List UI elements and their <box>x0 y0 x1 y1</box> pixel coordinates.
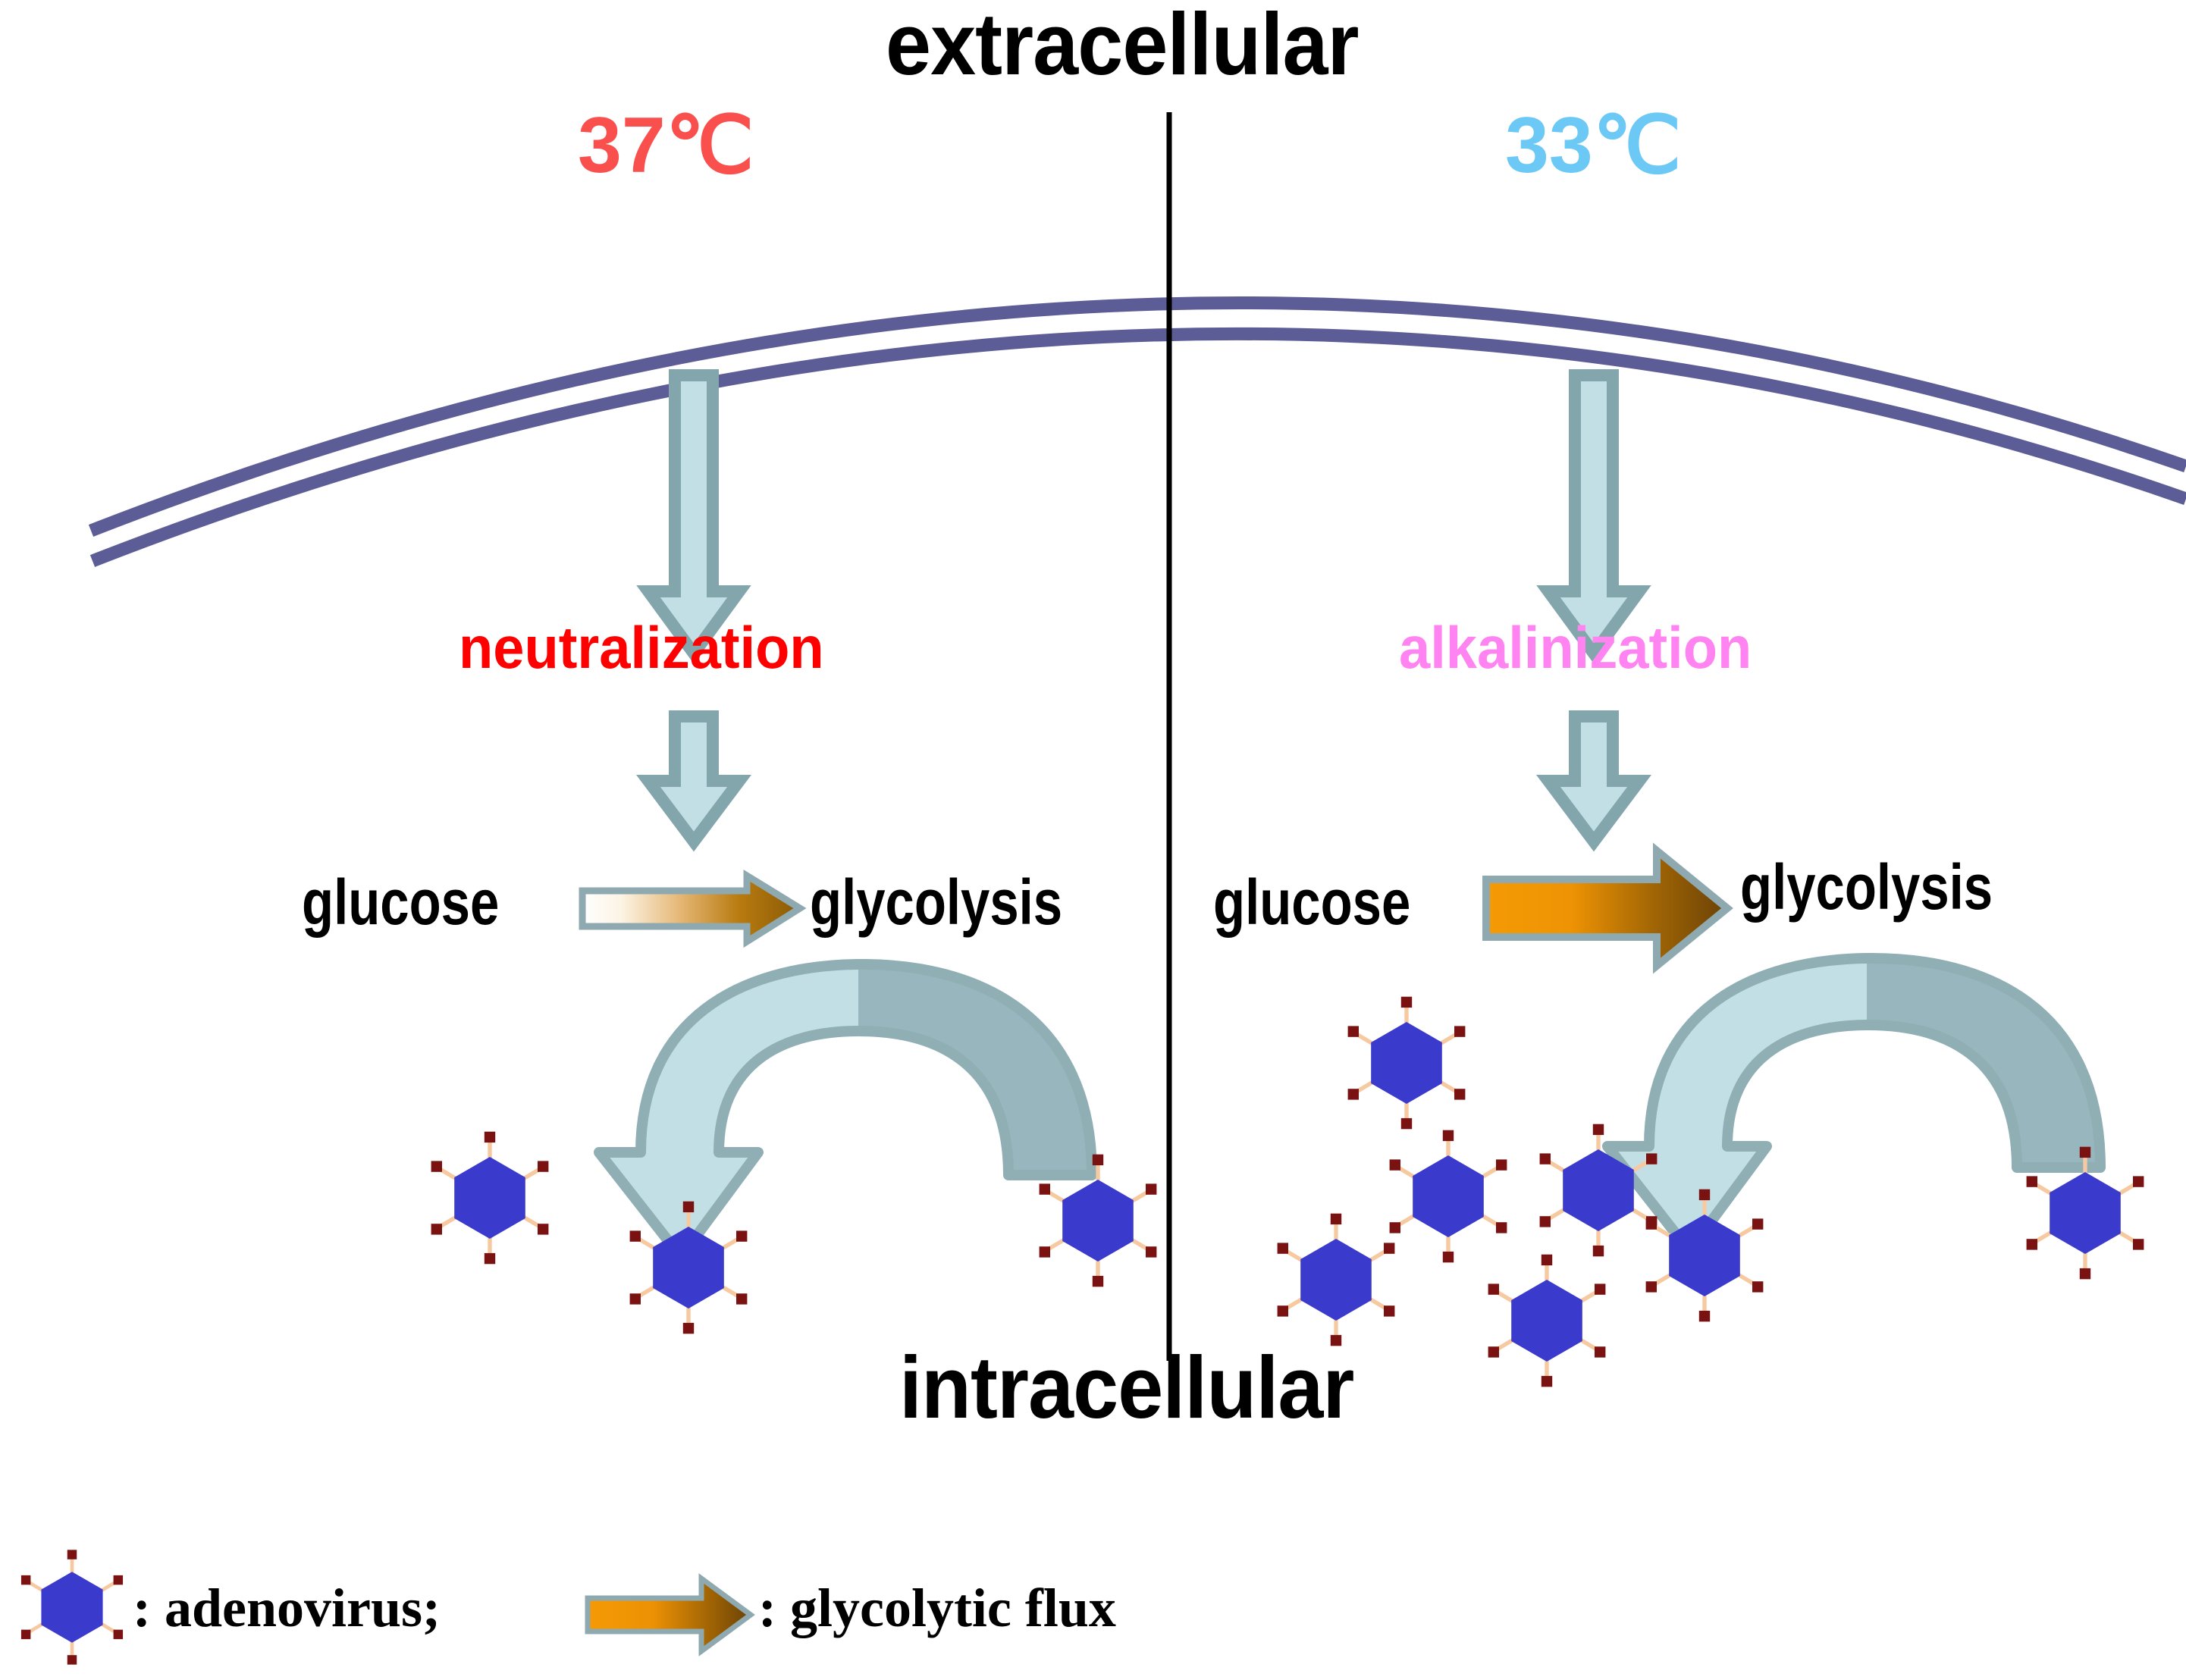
virus-particle <box>1488 1255 1606 1387</box>
curved-arrow-right <box>1607 958 2100 1251</box>
flux-arrow-right <box>1486 851 1727 966</box>
virus-particle <box>1390 1130 1507 1263</box>
virus-particle <box>431 1132 549 1265</box>
temperature-label-right: 33℃ <box>1505 106 1681 185</box>
product-label-right: glycolysis <box>1740 855 1993 919</box>
virus-particle <box>1348 997 1466 1130</box>
legend-virus-icon <box>21 1550 123 1664</box>
page-title-intracellular: intracellular <box>899 1343 1353 1431</box>
process-label-neutralization: neutralization <box>459 618 824 677</box>
flux-arrow-left <box>582 876 800 942</box>
entry-arrow-left-upper <box>648 375 739 654</box>
substrate-label-left: glucose <box>302 870 499 934</box>
virus-particle <box>1278 1214 1395 1346</box>
substrate-label-right: glucose <box>1213 870 1410 934</box>
legend-virus-label: : adenovirus; <box>133 1581 441 1635</box>
entry-arrow-left-lower <box>648 716 739 842</box>
entry-arrow-right-upper <box>1548 375 1639 654</box>
legend-flux-icon <box>588 1578 751 1651</box>
page-title-extracellular: extracellular <box>886 0 1359 88</box>
entry-arrow-right-lower <box>1548 716 1639 842</box>
legend-flux-label: : glycolytic flux <box>758 1581 1116 1635</box>
temperature-label-left: 37℃ <box>578 106 754 185</box>
process-label-alkalinization: alkalinization <box>1399 618 1752 677</box>
cell-membrane <box>91 302 2186 561</box>
diagram-canvas: extracellular intracellular 37℃ 33℃ neut… <box>0 0 2186 1680</box>
curved-arrow-left <box>599 964 1092 1257</box>
product-label-left: glycolysis <box>810 870 1062 934</box>
